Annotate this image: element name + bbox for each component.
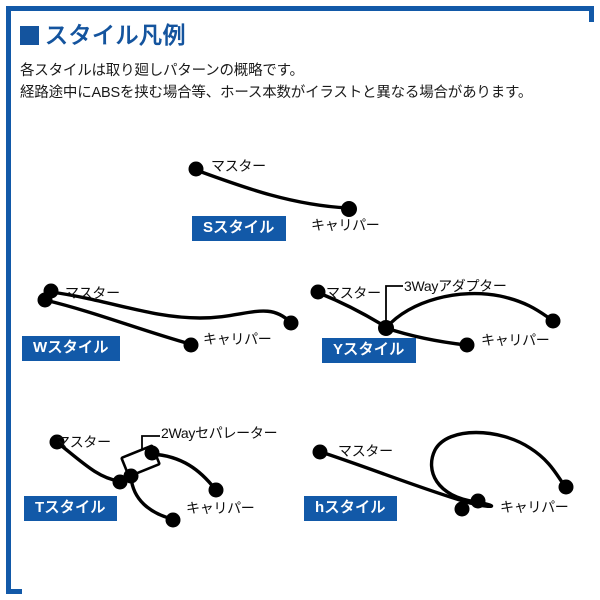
t-style-tag[interactable]: Tスタイル bbox=[24, 496, 117, 521]
s-style-master-label: マスター bbox=[211, 156, 266, 176]
title-bullet-icon bbox=[20, 26, 39, 45]
subtitle-block: 各スタイルは取り廻しパターンの概略です。 経路途中にABSを挟む場合等、ホース本… bbox=[20, 60, 580, 105]
s-style-tag[interactable]: Sスタイル bbox=[192, 216, 286, 241]
h-style-caliper-label: キャリパー bbox=[500, 497, 569, 517]
page-title: スタイル凡例 bbox=[20, 24, 580, 47]
t-style-caliper-label: キャリパー bbox=[186, 498, 255, 518]
h-style-tag[interactable]: hスタイル bbox=[304, 496, 397, 521]
y-style-caliper-label: キャリパー bbox=[481, 330, 550, 350]
w-style-tag[interactable]: Wスタイル bbox=[22, 336, 120, 361]
y-style-master-label: マスター bbox=[326, 283, 381, 303]
style-legend-page: スタイル凡例 各スタイルは取り廻しパターンの概略です。 経路途中にABSを挟む場… bbox=[0, 0, 600, 600]
y-style-tag[interactable]: Yスタイル bbox=[322, 338, 416, 363]
page-title-text: スタイル凡例 bbox=[45, 24, 186, 47]
w-style-master-label: マスター bbox=[65, 283, 120, 303]
header: スタイル凡例 各スタイルは取り廻しパターンの概略です。 経路途中にABSを挟む場… bbox=[20, 24, 580, 105]
subtitle-line-1: 各スタイルは取り廻しパターンの概略です。 bbox=[20, 60, 580, 82]
t-style-master-label: マスター bbox=[56, 432, 111, 452]
h-style-master-label: マスター bbox=[338, 441, 393, 461]
subtitle-line-2: 経路途中にABSを挟む場合等、ホース本数がイラストと異なる場合があります。 bbox=[20, 82, 580, 104]
s-style-caliper-label: キャリパー bbox=[311, 215, 380, 235]
w-style-caliper-label: キャリパー bbox=[203, 329, 272, 349]
y-style-adapter-label: 3Wayアダプター bbox=[404, 276, 507, 296]
t-style-separator-label: 2Wayセパレーター bbox=[161, 423, 277, 443]
